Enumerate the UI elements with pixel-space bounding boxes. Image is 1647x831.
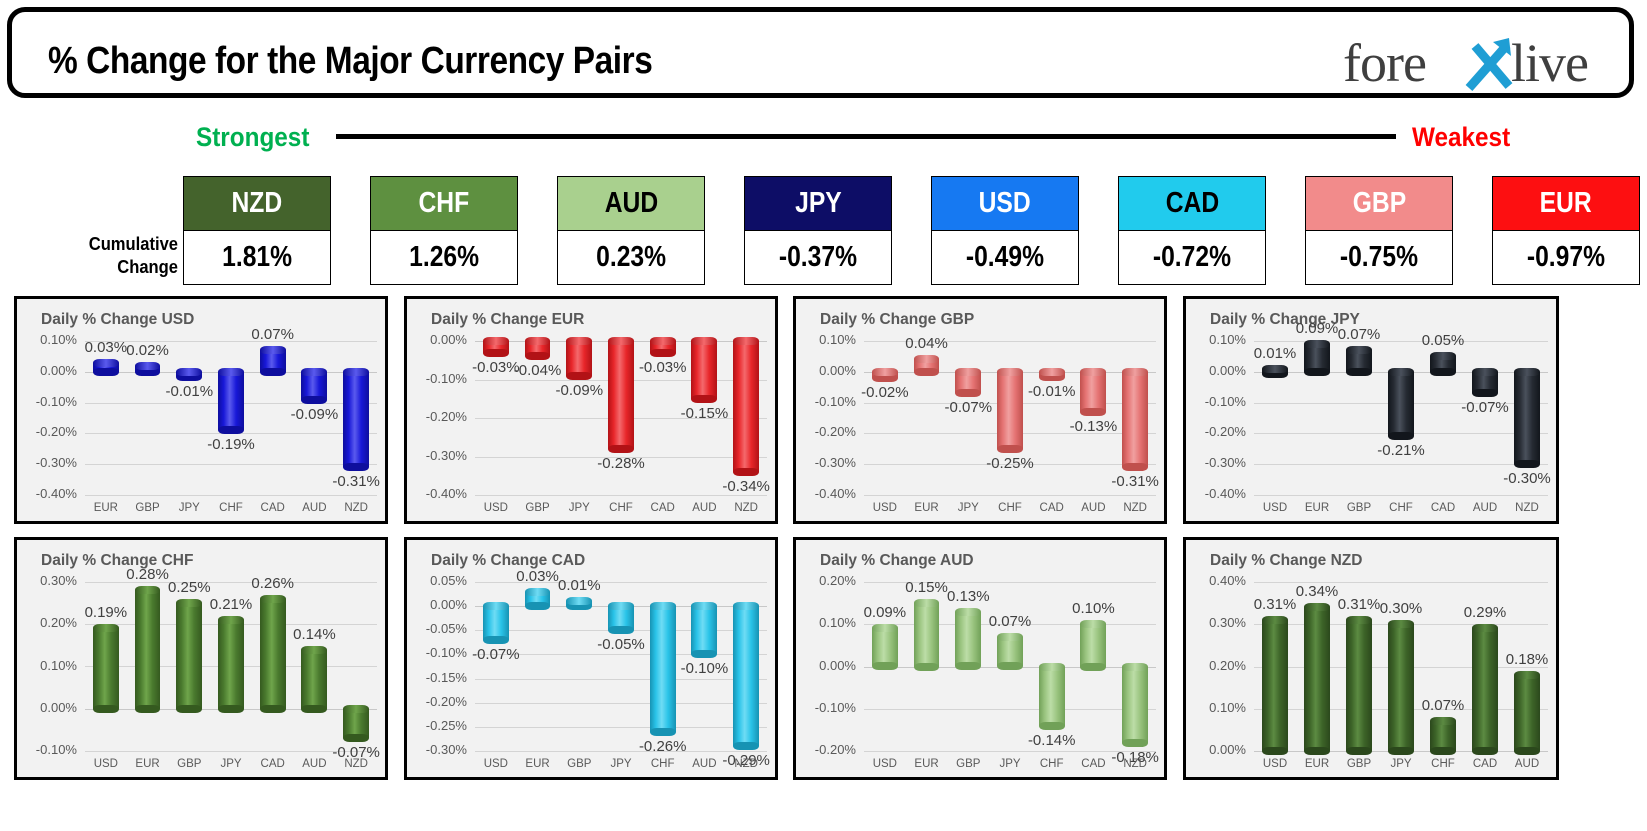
data-label-eur-cad: -0.03% [631,359,694,376]
bar-nzd-usd [1262,616,1288,755]
data-label-jpy-chf: -0.21% [1370,442,1433,459]
y-axis-tick: 0.00% [19,363,77,378]
x-axis-tick: CAD [252,502,294,514]
data-label-cad-usd: -0.07% [465,646,528,663]
bar-aud-gbp [955,608,981,671]
y-axis-tick: -0.20% [19,424,77,439]
bar-gbp-cad [1039,368,1065,381]
y-axis-tick: -0.30% [19,455,77,470]
currency-header-nzd: NZD [183,176,331,231]
chart-title-eur: Daily % Change EUR [431,311,584,329]
x-axis-tick: NZD [1114,758,1156,770]
data-label-gbp-usd: -0.02% [854,384,917,401]
x-axis-tick: AUD [684,502,726,514]
y-axis-tick: -0.10% [19,394,77,409]
currency-code: EUR [1540,177,1592,230]
y-axis-tick: 0.10% [798,332,856,347]
cumulative-label-line1: Cumulative [49,233,178,256]
x-axis-tick: JPY [168,502,210,514]
bar-cad-chf [650,602,676,736]
bar-usd-chf [218,368,244,435]
cumulative-value-eur: -0.97% [1492,231,1640,285]
cumulative-value-cad: -0.72% [1118,231,1266,285]
bar-gbp-usd [872,368,898,382]
data-label-cad-jpy: -0.05% [590,636,653,653]
data-label-gbp-nzd: -0.31% [1104,473,1167,490]
data-label-usd-gbp: 0.02% [116,342,179,359]
x-axis-tick: USD [864,502,906,514]
y-axis-tick: -0.20% [798,742,856,757]
y-axis-tick: 0.00% [1188,742,1246,757]
bar-usd-jpy [176,368,202,381]
bar-usd-nzd [343,368,369,471]
y-axis-tick: -0.20% [409,694,467,709]
bar-eur-gbp [525,337,551,360]
y-axis-tick: -0.10% [409,645,467,660]
gridline [475,495,767,496]
bar-nzd-chf [1430,717,1456,755]
y-axis-tick: 0.00% [1188,363,1246,378]
data-label-nzd-chf: 0.07% [1412,697,1475,714]
x-axis-tick: CHF [210,502,252,514]
cumulative-cell-chf: CHF1.26% [370,176,518,285]
data-label-gbp-aud: -0.13% [1062,418,1125,435]
data-label-aud-chf: -0.14% [1020,732,1083,749]
y-axis-tick: -0.05% [409,621,467,636]
rank-line-divider [336,134,1396,139]
x-axis-tick: NZD [335,758,377,770]
y-axis-tick: -0.40% [19,486,77,501]
cumulative-value-text: -0.72% [1153,231,1231,283]
page-title: % Change for the Major Currency Pairs [48,40,652,83]
cumulative-cell-cad: CAD-0.72% [1118,176,1266,285]
bar-chf-nzd [343,705,369,743]
bar-aud-chf [1039,663,1065,730]
bar-eur-jpy [566,337,592,380]
forexlive-logo: fore live [1343,32,1603,94]
chart-panel-usd: Daily % Change USD0.10%0.00%-0.10%-0.20%… [14,296,388,524]
data-label-nzd-cad: 0.29% [1454,604,1517,621]
y-axis-tick: 0.00% [409,597,467,612]
y-axis-tick: -0.40% [409,486,467,501]
y-axis-tick: -0.20% [1188,424,1246,439]
chart-title-gbp: Daily % Change GBP [820,311,974,329]
x-axis-tick: CHF [600,502,642,514]
y-axis-tick: -0.40% [1188,486,1246,501]
x-axis-tick: CAD [1031,502,1073,514]
bar-nzd-jpy [1388,620,1414,755]
currency-header-gbp: GBP [1305,176,1453,231]
x-axis-tick: EUR [1296,758,1338,770]
x-axis-tick: NZD [1506,502,1548,514]
bar-usd-cad [260,346,286,376]
currency-header-chf: CHF [370,176,518,231]
y-axis-tick: 0.10% [19,658,77,673]
data-label-gbp-cad: -0.01% [1020,383,1083,400]
x-axis-tick: AUD [1464,502,1506,514]
x-axis-tick: EUR [906,502,948,514]
currency-code: NZD [232,177,283,230]
x-arrow-icon [1463,36,1519,92]
data-label-usd-nzd: -0.31% [325,473,388,490]
data-label-cad-gbp: 0.01% [548,577,611,594]
bar-eur-aud [691,337,717,403]
currency-header-aud: AUD [557,176,705,231]
bar-chf-usd [93,624,119,712]
y-axis-tick: -0.10% [798,700,856,715]
bar-chf-eur [135,586,161,712]
x-axis-tick: GBP [517,502,559,514]
currency-code: CAD [1165,177,1218,230]
cumulative-value-text: 0.23% [596,231,666,283]
bar-nzd-eur [1304,603,1330,755]
bar-jpy-nzd [1514,368,1540,468]
chart-panel-gbp: Daily % Change GBP0.10%0.00%-0.10%-0.20%… [793,296,1167,524]
data-label-gbp-eur: 0.04% [895,335,958,352]
y-axis-tick: 0.05% [409,573,467,588]
y-axis-tick: 0.10% [1188,332,1246,347]
bar-aud-nzd [1122,663,1148,747]
bar-nzd-cad [1472,624,1498,755]
y-axis-tick: 0.30% [1188,615,1246,630]
data-label-eur-nzd: -0.34% [715,478,778,495]
bar-jpy-gbp [1346,346,1372,376]
x-axis-tick: USD [475,758,517,770]
currency-header-eur: EUR [1492,176,1640,231]
gridline [864,495,1156,496]
data-label-aud-gbp: 0.13% [937,588,1000,605]
y-axis-tick: -0.30% [1188,455,1246,470]
cumulative-change-row: NZD1.81%CHF1.26%AUD0.23%JPY-0.37%USD-0.4… [183,176,1647,286]
bar-aud-usd [872,624,898,670]
currency-header-usd: USD [931,176,1079,231]
x-axis-tick: CHF [1031,758,1073,770]
x-axis-tick: GBP [127,502,169,514]
data-label-gbp-jpy: -0.07% [937,399,1000,416]
cumulative-value-text: -0.97% [1527,231,1605,283]
y-axis-tick: -0.30% [798,455,856,470]
data-label-aud-jpy: 0.07% [979,613,1042,630]
x-axis-tick: GBP [1338,502,1380,514]
data-label-jpy-cad: 0.05% [1412,332,1475,349]
gridline [85,464,377,465]
x-axis-tick: JPY [600,758,642,770]
bar-gbp-nzd [1122,368,1148,471]
data-label-jpy-usd: 0.01% [1244,345,1307,362]
bar-usd-gbp [135,362,161,376]
bar-cad-eur [525,588,551,610]
chart-title-aud: Daily % Change AUD [820,552,974,570]
y-axis-tick: 0.30% [19,573,77,588]
data-label-cad-aud: -0.10% [673,660,736,677]
x-axis-tick: USD [864,758,906,770]
bar-aud-eur [914,599,940,670]
x-axis-tick: NZD [725,758,767,770]
logo-text-left: fore [1343,32,1426,94]
x-axis-tick: AUD [1506,758,1548,770]
y-axis-tick: -0.10% [409,371,467,386]
bar-gbp-aud [1080,368,1106,416]
y-axis-tick: -0.30% [409,448,467,463]
y-axis-tick: 0.00% [409,332,467,347]
weakest-label: Weakest [1412,122,1510,153]
chart-panel-eur: Daily % Change EUR0.00%-0.10%-0.20%-0.30… [404,296,778,524]
y-axis-tick: 0.00% [798,363,856,378]
chart-panel-nzd: Daily % Change NZD0.40%0.30%0.20%0.10%0.… [1183,537,1559,780]
currency-header-jpy: JPY [744,176,892,231]
x-axis-tick: GBP [1338,758,1380,770]
data-label-chf-jpy: 0.21% [200,596,263,613]
x-axis-tick: NZD [335,502,377,514]
currency-code: GBP [1352,177,1405,230]
data-label-chf-aud: 0.14% [283,626,346,643]
cumulative-value-text: -0.49% [966,231,1044,283]
bar-jpy-chf [1388,368,1414,441]
cumulative-cell-nzd: NZD1.81% [183,176,331,285]
chart-panel-chf: Daily % Change CHF0.30%0.20%0.10%0.00%-0… [14,537,388,780]
chart-title-usd: Daily % Change USD [41,311,194,329]
x-axis-tick: EUR [517,758,559,770]
gridline [1254,341,1548,342]
x-axis-tick: EUR [127,758,169,770]
data-label-jpy-gbp: 0.07% [1328,326,1391,343]
data-label-nzd-aud: 0.18% [1496,651,1559,668]
data-label-eur-jpy: -0.09% [548,382,611,399]
x-axis-tick: GBP [947,758,989,770]
bar-chf-aud [301,646,327,713]
data-label-chf-gbp: 0.25% [158,579,221,596]
data-label-cad-chf: -0.26% [631,738,694,755]
cumulative-change-label: Cumulative Change [49,233,178,279]
x-axis-tick: AUD [294,502,336,514]
y-axis-tick: -0.10% [19,742,77,757]
cumulative-label-line2: Change [49,256,178,279]
cumulative-cell-aud: AUD0.23% [557,176,705,285]
y-axis-tick: 0.00% [19,700,77,715]
bar-chf-gbp [176,599,202,713]
bar-eur-chf [608,337,634,453]
x-axis-tick: GBP [558,758,600,770]
y-axis-tick: -0.30% [409,742,467,757]
data-label-jpy-aud: -0.07% [1454,399,1517,416]
gridline [475,727,767,728]
bar-cad-jpy [608,602,634,634]
cumulative-value-jpy: -0.37% [744,231,892,285]
x-axis-tick: CHF [1422,758,1464,770]
bar-nzd-gbp [1346,616,1372,755]
data-label-eur-chf: -0.28% [590,455,653,472]
x-axis-tick: CAD [642,502,684,514]
x-axis-tick: CHF [642,758,684,770]
cumulative-cell-eur: EUR-0.97% [1492,176,1640,285]
currency-code: USD [979,177,1031,230]
y-axis-tick: -0.20% [798,424,856,439]
cumulative-value-gbp: -0.75% [1305,231,1453,285]
x-axis-tick: JPY [558,502,600,514]
x-axis-tick: EUR [85,502,127,514]
y-axis-tick: 0.00% [798,658,856,673]
x-axis-tick: CHF [1380,502,1422,514]
bar-eur-usd [483,337,509,357]
cumulative-value-nzd: 1.81% [183,231,331,285]
y-axis-tick: -0.10% [798,394,856,409]
bar-jpy-eur [1304,340,1330,376]
x-axis-tick: JPY [1380,758,1422,770]
cumulative-value-chf: 1.26% [370,231,518,285]
header-banner: % Change for the Major Currency Pairs fo… [7,7,1634,98]
x-axis-tick: JPY [947,502,989,514]
x-axis-tick: USD [85,758,127,770]
x-axis-tick: CAD [1422,502,1464,514]
data-label-gbp-chf: -0.25% [979,455,1042,472]
gridline [475,679,767,680]
x-axis-tick: USD [475,502,517,514]
data-label-eur-aud: -0.15% [673,405,736,422]
y-axis-tick: 0.10% [19,332,77,347]
gridline [864,709,1156,710]
gridline [1254,464,1548,465]
data-label-chf-cad: 0.26% [241,575,304,592]
bar-jpy-usd [1262,365,1288,378]
currency-header-cad: CAD [1118,176,1266,231]
x-axis-tick: CHF [989,502,1031,514]
y-axis-tick: 0.10% [1188,700,1246,715]
chart-panel-cad: Daily % Change CAD0.05%0.00%-0.05%-0.10%… [404,537,778,780]
cumulative-value-text: 1.81% [222,231,292,283]
y-axis-tick: -0.20% [409,409,467,424]
cumulative-cell-usd: USD-0.49% [931,176,1079,285]
bar-gbp-eur [914,355,940,375]
currency-code: JPY [795,177,842,230]
gridline [85,495,377,496]
y-axis-tick: -0.10% [1188,394,1246,409]
y-axis-tick: 0.20% [19,615,77,630]
data-label-jpy-nzd: -0.30% [1496,470,1559,487]
bar-aud-jpy [997,633,1023,671]
cumulative-value-usd: -0.49% [931,231,1079,285]
data-label-usd-aud: -0.09% [283,406,346,423]
data-label-chf-usd: 0.19% [75,604,138,621]
data-label-usd-jpy: -0.01% [158,383,221,400]
chart-panel-aud: Daily % Change AUD0.20%0.10%0.00%-0.10%-… [793,537,1167,780]
bar-nzd-aud [1514,671,1540,755]
data-label-usd-chf: -0.19% [200,436,263,453]
data-label-usd-cad: 0.07% [241,326,304,343]
x-axis-tick: USD [1254,502,1296,514]
bar-eur-nzd [733,337,759,476]
data-label-nzd-jpy: 0.30% [1370,600,1433,617]
data-label-aud-usd: 0.09% [854,604,917,621]
bar-eur-cad [650,337,676,357]
x-axis-tick: JPY [210,758,252,770]
cumulative-cell-gbp: GBP-0.75% [1305,176,1453,285]
x-axis-tick: NZD [1114,502,1156,514]
cumulative-cell-jpy: JPY-0.37% [744,176,892,285]
strongest-label: Strongest [196,122,309,153]
bar-cad-aud [691,602,717,658]
y-axis-tick: 0.40% [1188,573,1246,588]
currency-code: AUD [604,177,657,230]
bar-jpy-cad [1430,352,1456,375]
x-axis-tick: GBP [168,758,210,770]
x-axis-tick: USD [1254,758,1296,770]
chart-title-nzd: Daily % Change NZD [1210,552,1362,570]
bar-gbp-chf [997,368,1023,453]
chart-panel-jpy: Daily % Change JPY0.10%0.00%-0.10%-0.20%… [1183,296,1559,524]
x-axis-tick: CAD [252,758,294,770]
y-axis-tick: 0.10% [798,615,856,630]
x-axis-tick: EUR [906,758,948,770]
y-axis-tick: -0.40% [798,486,856,501]
logo-text-right: live [1511,32,1588,94]
bar-chf-cad [260,595,286,713]
bar-cad-gbp [566,597,592,610]
x-axis-tick: AUD [1073,502,1115,514]
bar-cad-nzd [733,602,759,750]
cumulative-value-text: 1.26% [409,231,479,283]
bar-gbp-jpy [955,368,981,398]
bar-usd-aud [301,368,327,404]
currency-code: CHF [419,177,470,230]
bar-chf-jpy [218,616,244,713]
y-axis-tick: 0.20% [798,573,856,588]
x-axis-tick: CAD [1464,758,1506,770]
cumulative-value-text: -0.37% [779,231,857,283]
y-axis-tick: -0.15% [409,670,467,685]
y-axis-tick: -0.25% [409,718,467,733]
cumulative-value-aud: 0.23% [557,231,705,285]
data-label-aud-cad: 0.10% [1062,600,1125,617]
gridline [475,703,767,704]
bar-usd-eur [93,359,119,376]
x-axis-tick: EUR [1296,502,1338,514]
y-axis-tick: 0.20% [1188,658,1246,673]
data-label-eur-gbp: -0.04% [506,362,569,379]
bar-cad-usd [483,602,509,644]
cumulative-value-text: -0.75% [1340,231,1418,283]
x-axis-tick: JPY [989,758,1031,770]
gridline [1254,495,1548,496]
bar-aud-cad [1080,620,1106,670]
x-axis-tick: NZD [725,502,767,514]
bar-jpy-aud [1472,368,1498,398]
